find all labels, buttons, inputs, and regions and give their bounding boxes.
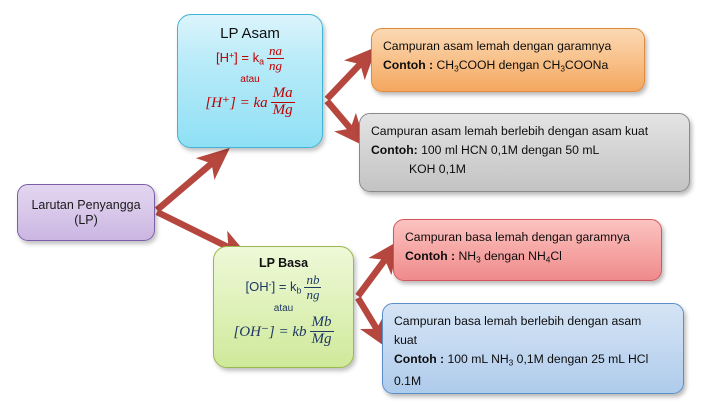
asam-f2-fraction: Ma Mg (271, 86, 295, 119)
asam-f2-denominator: Mg (271, 102, 295, 119)
case-box-asam-garam[interactable]: Campuran asam lemah dengan garamnya Cont… (371, 28, 645, 92)
basa-f1-bracket: [OH (246, 279, 269, 294)
orange-example-post: COONa (565, 58, 608, 72)
node-lp-asam[interactable]: LP Asam [H+] = ka na ng atau [H⁺] = ka M… (177, 14, 323, 148)
lp-asam-formula-2: [H⁺] = ka Ma Mg (205, 86, 294, 119)
asam-f1-bracket: [H (216, 50, 229, 65)
blue-line4: 0.1M (394, 372, 672, 391)
orange-line1: Campuran asam lemah dengan garamnya (383, 37, 633, 56)
basa-f1-denominator: ng (304, 287, 321, 302)
blue-example-pre: 100 mL NH (444, 352, 509, 366)
node-lp-basa[interactable]: LP Basa [OH-] = kb nb ng atau [OH⁻] = kb… (213, 246, 354, 368)
basa-f2-numerator: Mb (310, 315, 334, 331)
basa-f2-denominator: Mg (310, 331, 334, 348)
gray-line1: Campuran asam lemah berlebih dengan asam… (371, 122, 678, 141)
gray-label: Contoh: (371, 143, 418, 157)
blue-line2: kuat (394, 331, 672, 350)
node-larutan-penyangga[interactable]: Larutan Penyangga (LP) (17, 184, 155, 241)
basa-f1-fraction: nb ng (304, 273, 321, 301)
asam-f1-subscript: a (259, 56, 264, 66)
arrow-asam-to-gray (327, 101, 356, 135)
asam-f1-fraction: na ng (267, 44, 284, 72)
lp-basa-formula-2: [OH⁻] = kb Mb Mg (233, 315, 333, 348)
basa-f1-numerator: nb (304, 273, 321, 287)
blue-example-post: 0,1M dengan 25 mL HCl (513, 352, 648, 366)
diagram-canvas: Larutan Penyangga (LP) LP Asam [H+] = ka… (0, 0, 702, 410)
blue-line3: Contoh : 100 mL NH3 0,1M dengan 25 mL HC… (394, 350, 672, 372)
gray-line2: Contoh: 100 ml HCN 0,1M dengan 50 mL (371, 141, 678, 160)
arrow-asam-to-orange (327, 58, 366, 99)
orange-example-pre: CH (433, 58, 454, 72)
node-root-line1: Larutan Penyangga (31, 198, 140, 213)
blue-label: Contoh : (394, 352, 444, 366)
pink-line1: Campuran basa lemah dengan garamnya (405, 228, 650, 247)
pink-example-mid: dengan NH (481, 249, 546, 263)
basa-f2-lhs: [OH⁻] = kb (233, 322, 306, 341)
arrow-root-to-asam (157, 158, 218, 210)
lp-basa-connector: atau (274, 303, 293, 314)
case-box-basa-kuat[interactable]: Campuran basa lemah berlebih dengan asam… (382, 303, 684, 394)
orange-label: Contoh : (383, 58, 433, 72)
pink-line2: Contoh : NH3 dengan NH4Cl (405, 247, 650, 269)
asam-f1-bracket-close: ] = k (234, 50, 259, 65)
node-root-line2: (LP) (74, 213, 98, 228)
basa-f1-subscript: b (297, 285, 302, 295)
asam-f1-numerator: na (267, 44, 284, 58)
lp-basa-formula-1: [OH-] = kb nb ng (246, 273, 322, 301)
lp-asam-formula-1: [H+] = ka na ng (216, 44, 284, 72)
pink-label: Contoh : (405, 249, 455, 263)
orange-example-mid: COOH dengan CH (459, 58, 561, 72)
case-box-asam-kuat[interactable]: Campuran asam lemah berlebih dengan asam… (359, 113, 690, 192)
lp-asam-title: LP Asam (220, 25, 280, 42)
asam-f2-lhs: [H⁺] = ka (205, 93, 267, 112)
lp-basa-title: LP Basa (259, 256, 308, 270)
case-box-basa-garam[interactable]: Campuran basa lemah dengan garamnya Cont… (393, 219, 662, 281)
basa-f2-fraction: Mb Mg (310, 315, 334, 348)
asam-f1-denominator: ng (267, 58, 284, 73)
asam-f2-numerator: Ma (271, 86, 295, 102)
lp-asam-connector: atau (240, 74, 259, 85)
blue-line1: Campuran basa lemah berlebih dengan asam (394, 312, 672, 331)
arrow-basa-to-pink (358, 253, 390, 296)
gray-example: 100 ml HCN 0,1M dengan 50 mL (421, 143, 599, 157)
gray-line3: KOH 0,1M (371, 160, 678, 179)
orange-line2: Contoh : CH3COOH dengan CH3COONa (383, 56, 633, 78)
pink-example-post: Cl (550, 249, 562, 263)
basa-f1-bracket-close: ] = k (272, 279, 297, 294)
pink-example-pre: NH (455, 249, 476, 263)
arrow-basa-to-blue (358, 298, 381, 336)
